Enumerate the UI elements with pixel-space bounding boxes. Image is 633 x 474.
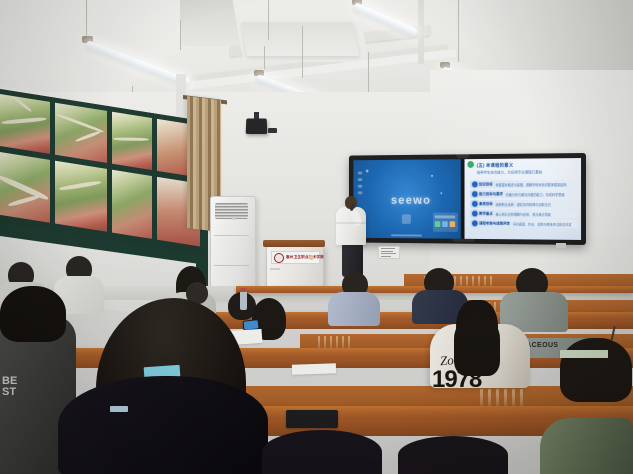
seewo-logo: seewo — [391, 193, 431, 206]
classroom-scene: seewo (五) 本课程的意义 — [0, 0, 633, 474]
university-seal-icon — [274, 253, 284, 263]
slide-subheading: 培养学生综合能力，为后续专业课程打基础 — [477, 170, 542, 175]
light-wire-5 — [302, 26, 303, 78]
presenter-shirt-fold — [336, 222, 366, 224]
lectern-slot — [270, 268, 280, 270]
slide-row-key: 能力目标与要求 — [479, 192, 503, 197]
student-hair — [454, 318, 500, 376]
student-head — [398, 436, 508, 474]
window-pane-6 — [54, 160, 108, 233]
bullet-icon — [472, 181, 478, 187]
right-screen-slide[interactable]: (五) 本课程的意义 培养学生综合能力，为后续专业课程打基础 知识目标 掌握基本… — [465, 158, 582, 240]
light-wire-4 — [264, 46, 265, 70]
lectern-top — [263, 240, 325, 247]
light-wire-2 — [268, 0, 269, 40]
slide-row-key: 知识目标 — [479, 182, 493, 187]
institution-name: 惠州卫生职业技术学院 — [286, 255, 324, 260]
slide-row: 知识目标 掌握基本概念与原理，理解学科体系的整体框架结构 — [470, 180, 578, 188]
bullet-icon — [472, 220, 478, 226]
desk-row-2-slats-right — [480, 389, 523, 406]
screen-taskbar[interactable] — [391, 234, 422, 236]
student-head — [560, 338, 632, 402]
slide-row-text: 培养职业素养、团队协作精神与创新意识 — [496, 201, 551, 206]
smartphone[interactable] — [286, 410, 338, 428]
paper-sheet[interactable] — [292, 363, 336, 375]
slide-row-text: 具备分析与解决问题的能力，形成科学思维 — [506, 192, 565, 197]
slide-row: 课程考核与成绩评定 平时表现、作业、实践与期末考试综合评定 — [470, 219, 578, 228]
left-screen-seewo[interactable]: seewo — [353, 159, 460, 239]
slide-row-text: 平时表现、作业、实践与期末考试综合评定 — [513, 221, 572, 226]
slide-row-key: 素质目标 — [479, 201, 493, 206]
light-wire-3 — [180, 20, 181, 50]
window-pane-1 — [0, 92, 51, 155]
student-head — [262, 430, 382, 474]
tshirt-print-text: BEST — [2, 376, 17, 398]
slide-row-key: 教学重点 — [479, 211, 493, 216]
slide-row-key: 课程考核与成绩评定 — [479, 221, 510, 226]
screen-dock[interactable] — [433, 212, 458, 231]
dual-interactive-display[interactable]: seewo (五) 本课程的意义 — [349, 153, 586, 245]
ac-panel-seam-2 — [214, 265, 249, 266]
bullet-icon — [472, 201, 478, 207]
slide-row-text: 核心知识点的理解与应用，重点难点突破 — [496, 211, 551, 216]
light-wire-1 — [86, 0, 87, 36]
window-mullion-v1 — [50, 97, 55, 232]
display-control-bar[interactable] — [452, 239, 474, 242]
speaker-side — [268, 128, 277, 133]
lectern-knob — [309, 255, 314, 260]
paper-sheet[interactable] — [560, 350, 608, 358]
slide-row: 教学重点 核心知识点的理解与应用，重点难点突破 — [470, 210, 578, 218]
display-info-label — [378, 246, 400, 259]
display-camera-bar — [456, 154, 469, 158]
wall-speaker-icon — [246, 118, 268, 134]
window-mullion-v3 — [152, 113, 157, 248]
window-pane-2 — [54, 102, 108, 165]
slide-row: 素质目标 培养职业素养、团队协作精神与创新意识 — [470, 200, 578, 208]
student-body — [540, 418, 633, 474]
slide-row-text: 掌握基本概念与原理，理解学科体系的整体框架结构 — [496, 182, 567, 187]
light-wire-7 — [458, 0, 459, 62]
ac-panel-seam-1 — [214, 235, 249, 236]
bullet-icon — [472, 191, 478, 197]
water-bottle[interactable] — [240, 290, 247, 310]
window-pane-5 — [0, 150, 51, 223]
bullet-icon — [472, 211, 478, 217]
window-mullion-v2 — [107, 106, 112, 241]
display-seam — [462, 159, 465, 239]
window-pane-3 — [111, 111, 153, 172]
screen-app-icon[interactable] — [402, 214, 411, 224]
desk-card[interactable] — [110, 406, 128, 412]
slide-badge-icon — [467, 161, 474, 168]
student-head — [58, 376, 268, 474]
student-head — [0, 286, 66, 342]
ceiling-soffit — [241, 22, 359, 56]
slide-heading: (五) 本课程的意义 — [477, 163, 514, 169]
ceiling-column — [418, 0, 424, 64]
window-pane-7 — [111, 169, 153, 240]
ac-logo — [232, 216, 236, 220]
bottle-cap — [240, 288, 247, 292]
student-body — [328, 292, 380, 326]
slide-row: 能力目标与要求 具备分析与解决问题的能力，形成科学思维 — [470, 190, 578, 198]
display-bracket-right — [556, 243, 566, 248]
